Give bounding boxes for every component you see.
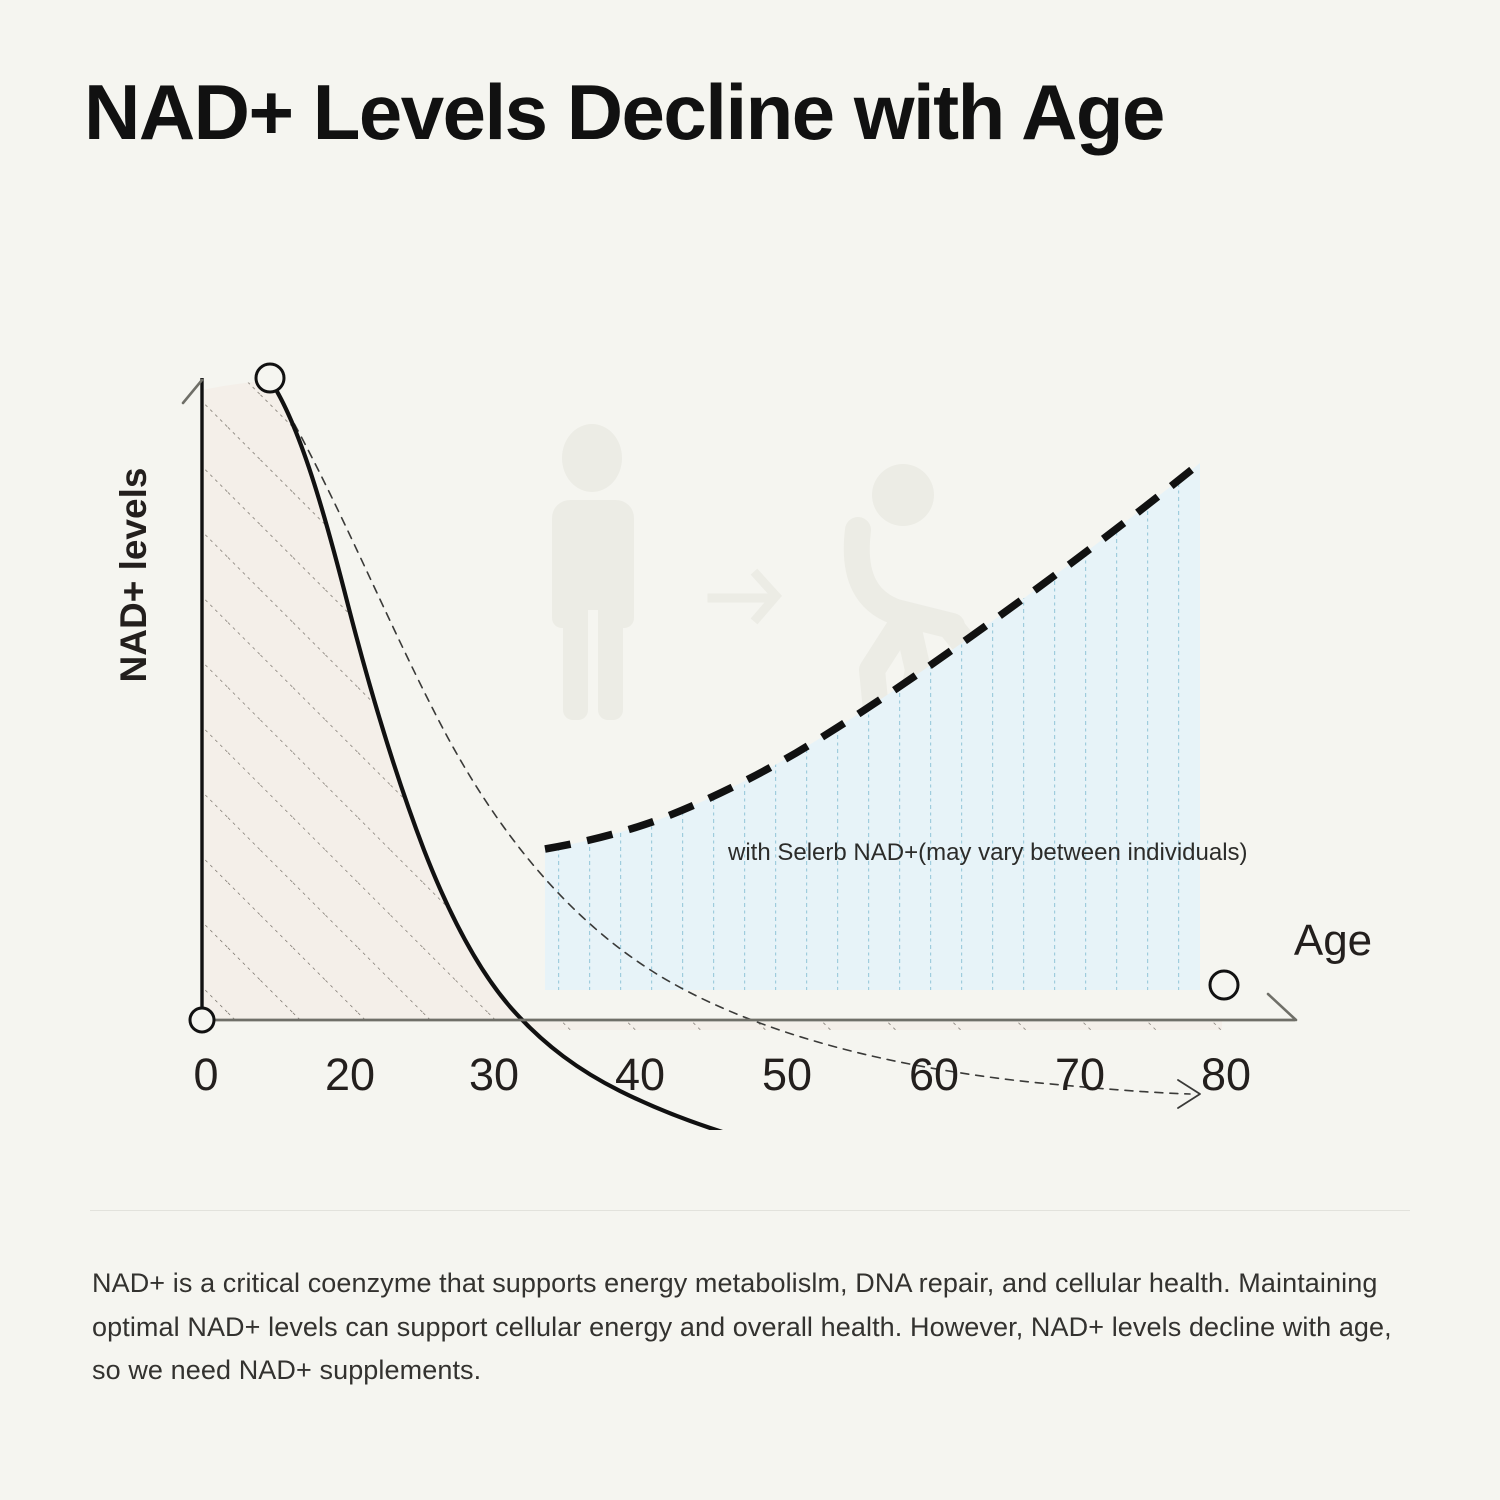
x-tick-label-60: 60 bbox=[909, 1049, 959, 1100]
infographic-page: NAD+ Levels Decline with Age bbox=[0, 0, 1500, 1500]
x-axis-arrowhead-icon bbox=[1268, 994, 1296, 1020]
chart-svg: NAD+ levels Age with Selerb NAD+(may var… bbox=[0, 330, 1500, 1130]
origin-marker bbox=[190, 1008, 214, 1032]
x-tick-label-80: 80 bbox=[1201, 1049, 1251, 1100]
x-tick-label-50: 50 bbox=[762, 1049, 812, 1100]
elderly-head-icon bbox=[872, 464, 934, 526]
x-tick-label-40: 40 bbox=[615, 1049, 665, 1100]
end-marker bbox=[1210, 971, 1238, 999]
y-axis-label: NAD+ levels bbox=[113, 468, 154, 683]
x-tick-label-70: 70 bbox=[1055, 1049, 1105, 1100]
nad-decline-chart: NAD+ levels Age with Selerb NAD+(may var… bbox=[0, 330, 1500, 1130]
x-tick-label-0: 0 bbox=[193, 1049, 218, 1100]
young-person-icon bbox=[552, 424, 634, 720]
supplement-annotation: with Selerb NAD+(may vary between indivi… bbox=[727, 839, 1248, 866]
x-axis-label: Age bbox=[1294, 916, 1372, 965]
x-tick-labels: 0 20 30 40 50 60 70 80 bbox=[193, 1049, 1251, 1100]
y-axis-arrowhead-icon bbox=[183, 380, 202, 403]
description-paragraph: NAD+ is a critical coenzyme that support… bbox=[92, 1262, 1422, 1393]
section-divider bbox=[90, 1210, 1410, 1211]
x-tick-label-20: 20 bbox=[325, 1049, 375, 1100]
arrow-right-icon bbox=[712, 575, 776, 618]
page-title: NAD+ Levels Decline with Age bbox=[84, 72, 1164, 154]
x-tick-label-30: 30 bbox=[469, 1049, 519, 1100]
peak-marker bbox=[256, 364, 284, 392]
